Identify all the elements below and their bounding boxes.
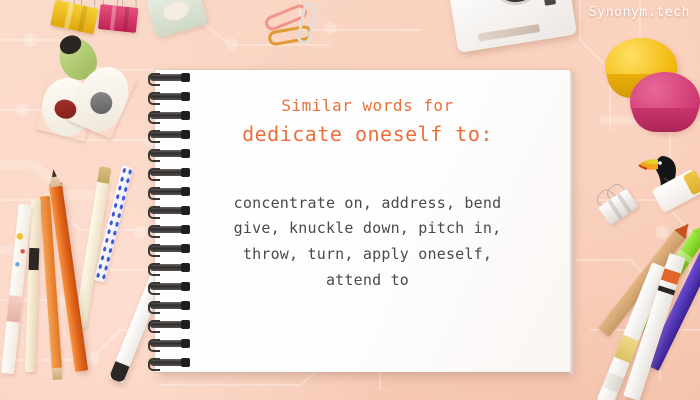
synonym-card: Similar words for dedicate oneself to: c… (175, 95, 560, 294)
card-kicker: Similar words for (175, 95, 560, 117)
card-term: dedicate oneself to: (175, 119, 560, 149)
synonym-list: concentrate on, address, bend give, knuc… (175, 191, 560, 294)
camera-grip-strip (478, 24, 540, 42)
glue-stick-cap (683, 170, 700, 196)
camera-shutter-button (543, 0, 556, 6)
binder-clip-pink (98, 4, 139, 36)
camera-lens (486, 0, 545, 9)
brand-logo[interactable]: Synonym.tech (589, 5, 690, 20)
